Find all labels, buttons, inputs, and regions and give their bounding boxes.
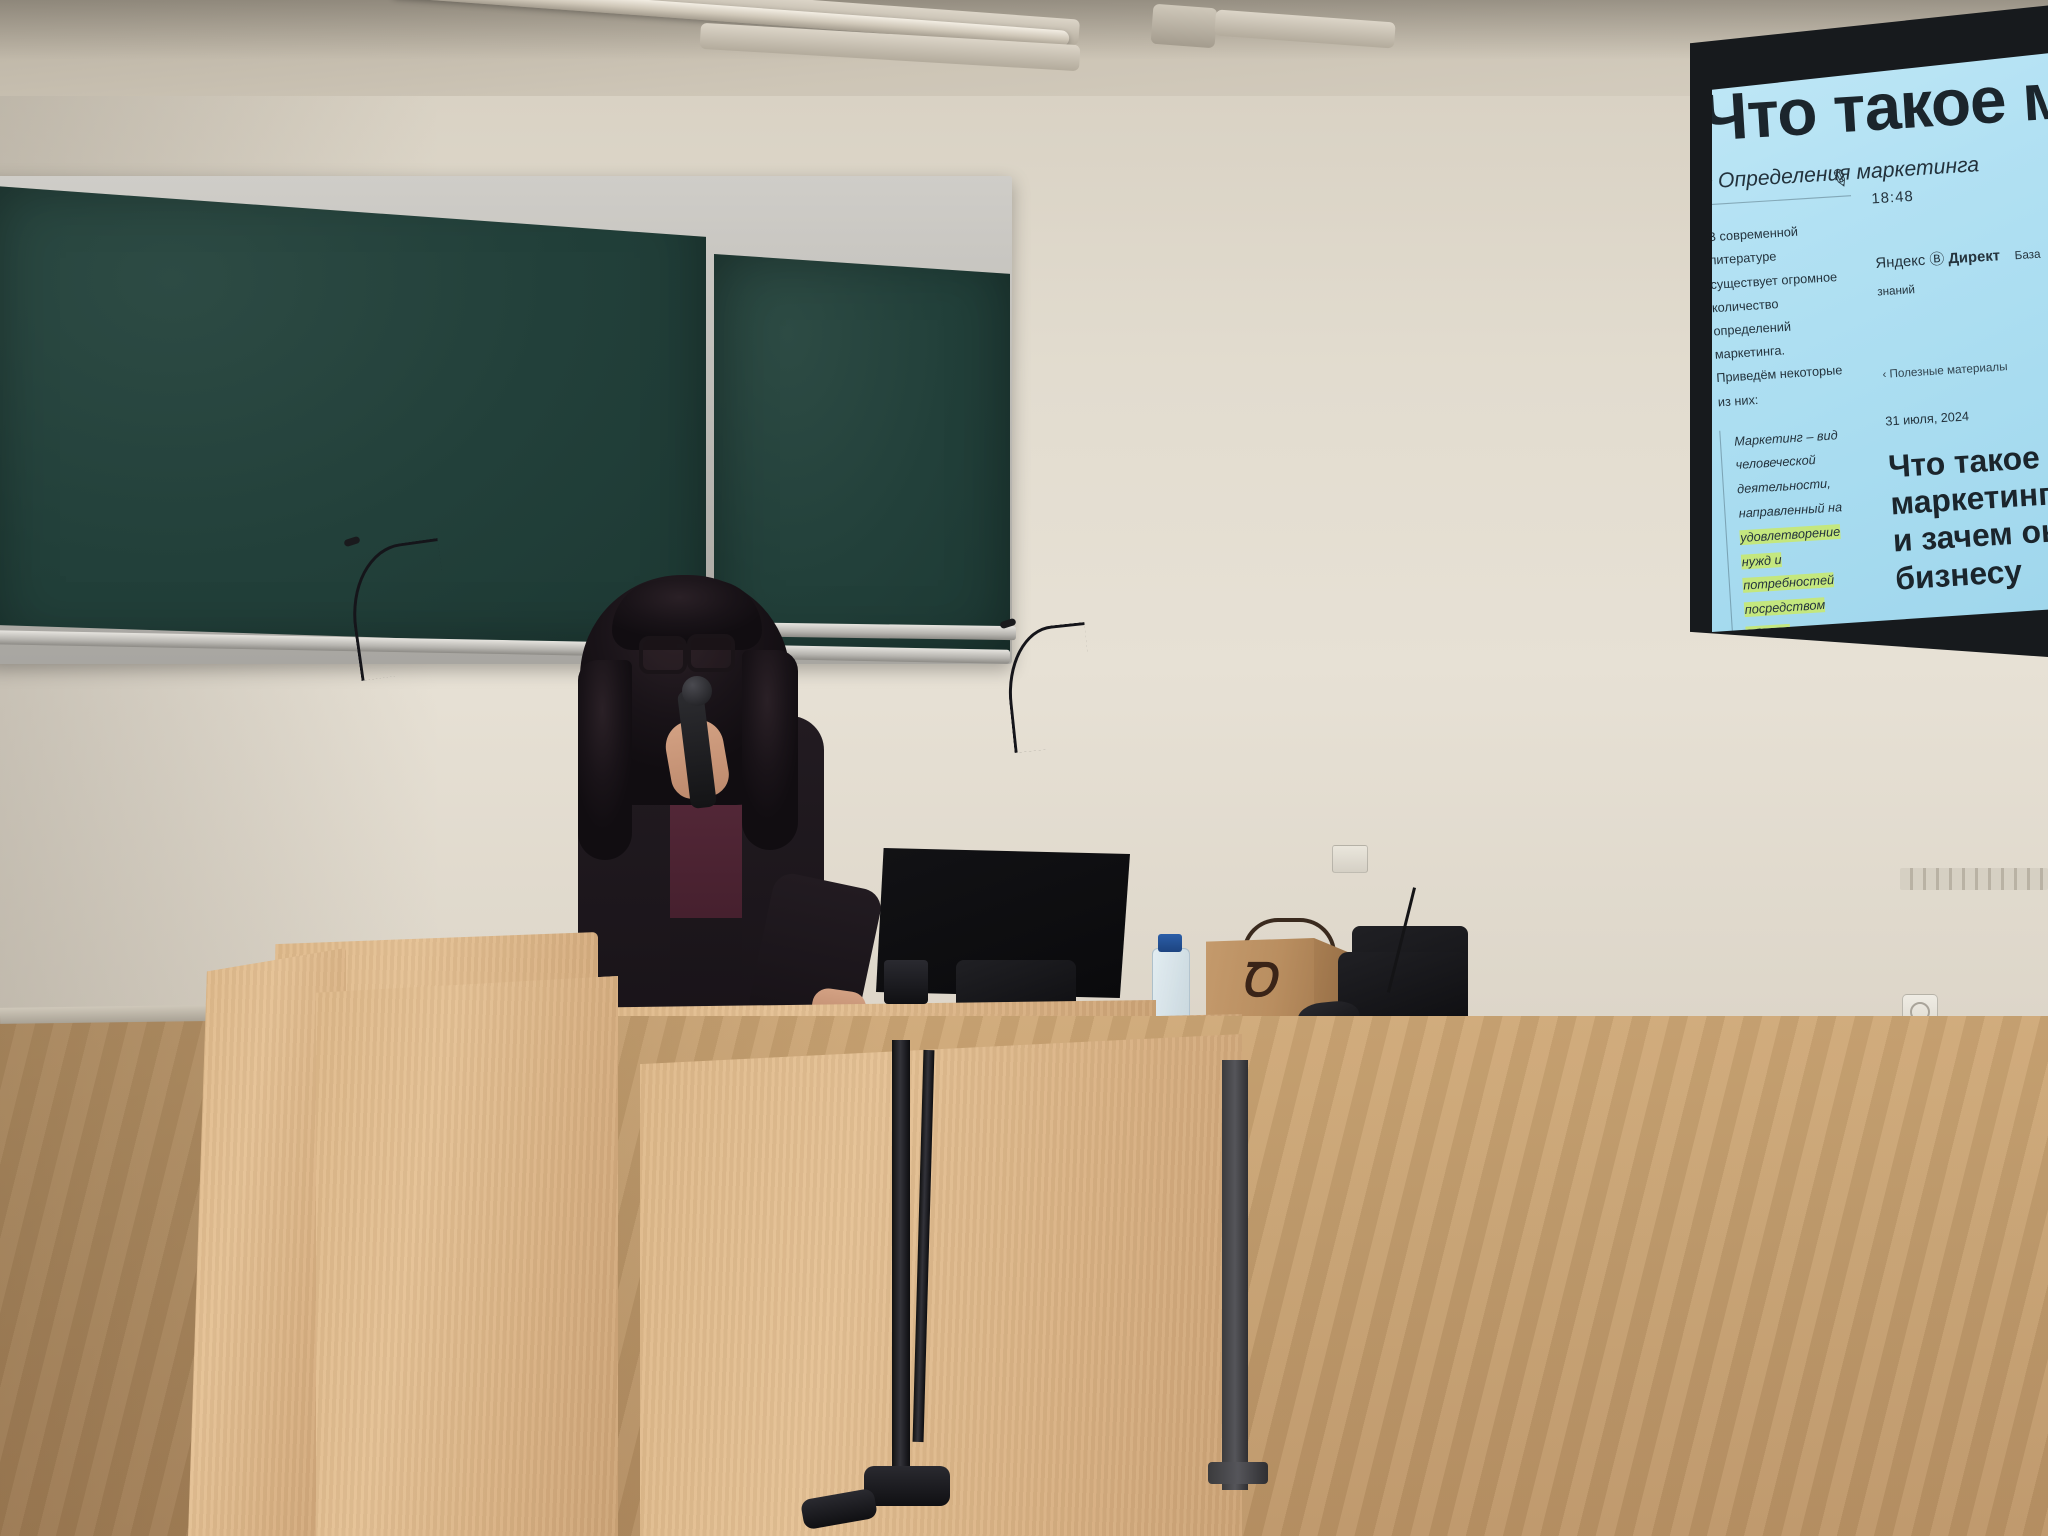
quote-1-lead: Маркетинг – вид человеческой деятельност… xyxy=(1734,427,1843,521)
eyeglasses-bridge xyxy=(677,644,691,648)
green-chalkboard-right xyxy=(714,254,1010,652)
lectern-front-panel-front xyxy=(316,976,618,1536)
quote-1-highlight: удовлетворение нужд и потребностей посре… xyxy=(1740,524,1841,632)
eyeglasses-left-lens xyxy=(639,636,687,674)
headline-line-2: и зачем он бизнесу xyxy=(1892,514,2048,597)
microphone-head xyxy=(682,676,712,706)
yandex-direct-brand: Яндекс Ⓑ Директ База знаний xyxy=(1875,237,2048,305)
presenter-hair-strand-right xyxy=(742,650,798,850)
eyeglasses-right-lens xyxy=(687,634,735,672)
brand-yandex: Яндекс xyxy=(1875,251,1926,271)
chevron-left-icon: ‹ xyxy=(1882,368,1887,381)
breadcrumb[interactable]: ‹ Полезные материалы xyxy=(1882,353,2048,387)
slide-intro-text: В современной литературе существует огро… xyxy=(1712,217,1851,413)
wall-junction-box xyxy=(1332,845,1368,873)
front-desk-leg-front xyxy=(1222,1060,1248,1490)
gift-bag-logo-icon: Ꝺ xyxy=(1240,958,1276,1004)
lecture-hall-photo: Что такое маркет ^ Определения маркетинг… xyxy=(0,0,2048,1536)
yandex-logo-icon: Ⓑ xyxy=(1929,250,1945,268)
camera-tripod-head xyxy=(884,960,928,1004)
slide-browser-panel: 18:48 Яндекс Ⓑ Директ База знаний ‹ Поле… xyxy=(1871,173,2048,632)
headline-line-1: Что такое маркетинг xyxy=(1887,440,2048,522)
article-date: 31 июля, 2024 xyxy=(1885,398,2048,434)
front-desk-foot-front xyxy=(1208,1462,1268,1484)
slide-quote-1: Маркетинг – вид человеческой деятельност… xyxy=(1720,422,1878,632)
tripod-center-column-front xyxy=(892,1040,910,1470)
brand-direct: Директ xyxy=(1948,246,2001,266)
slide-divider xyxy=(1712,195,1851,205)
tripod-foot-front xyxy=(864,1466,950,1506)
front-desk-face-front xyxy=(640,1034,1242,1536)
presenter-hair-strand-left xyxy=(578,660,632,860)
breadcrumb-label: Полезные материалы xyxy=(1889,361,2008,381)
light-fixture-cap xyxy=(1151,4,1218,49)
presentation-slide: Что такое маркет ^ Определения маркетинг… xyxy=(1712,52,2048,632)
bottle-cap xyxy=(1158,934,1182,952)
green-chalkboard-left xyxy=(0,186,706,648)
chevron-up-icon: ^ xyxy=(1712,170,1713,194)
projection-screen: Что такое маркет ^ Определения маркетинг… xyxy=(1712,52,2048,632)
wall-vent-grille xyxy=(1900,868,2048,890)
article-headline: Что такое маркетинг и зачем он бизнесу xyxy=(1887,437,2048,598)
